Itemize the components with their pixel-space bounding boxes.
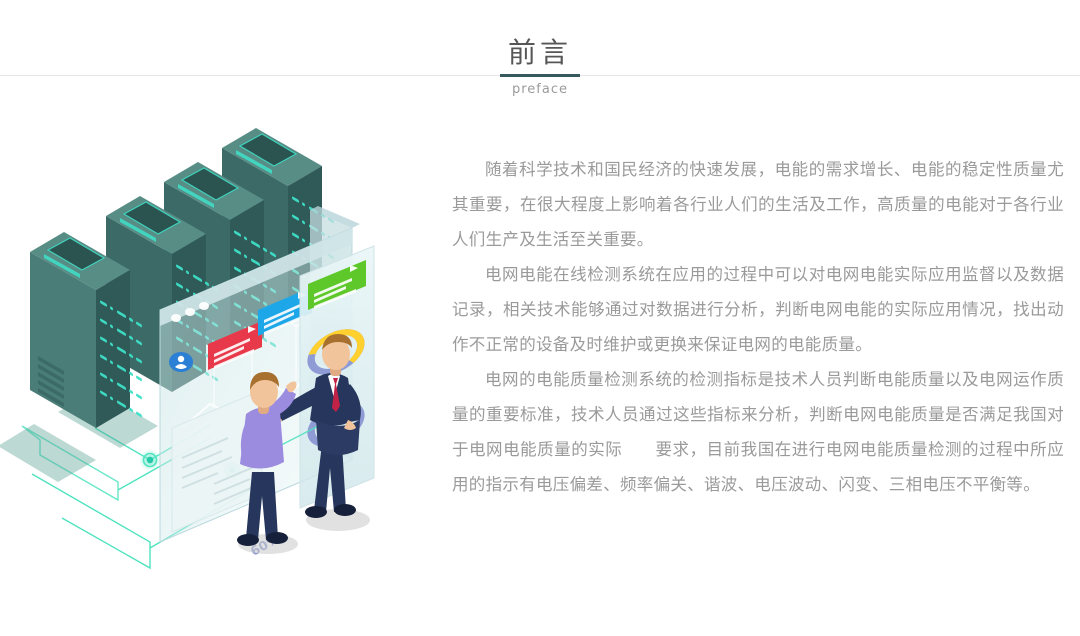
page-title: 前言 [0, 0, 1080, 70]
paragraph-3: 电网的电能质量检测系统的检测指标是技术人员判断电能质量以及电网运作质量的重要标准… [452, 362, 1064, 502]
header-title-block: 前言 [0, 0, 1080, 70]
article-body: 随着科学技术和国民经济的快速发展，电能的需求增长、电能的稳定性质量尤其重要，在很… [452, 152, 1064, 502]
isometric-datacenter-illustration: 60% 30% [0, 128, 440, 578]
page-header: 前言 preface [0, 0, 1080, 110]
title-accent-bar [500, 74, 580, 77]
paragraph-1-text: 随着科学技术和国民经济的快速发展，电能的需求增长、电能的稳定性质量尤其重要，在很… [452, 160, 1064, 249]
page-subtitle: preface [0, 81, 1080, 99]
paragraph-1: 随着科学技术和国民经济的快速发展，电能的需求增长、电能的稳定性质量尤其重要，在很… [452, 152, 1064, 257]
user-avatar-icon [169, 352, 193, 372]
paragraph-2: 电网电能在线检测系统在应用的过程中可以对电网电能实际应用监督以及数据记录，相关技… [452, 257, 1064, 362]
paragraph-2-text: 电网电能在线检测系统在应用的过程中可以对电网电能实际应用监督以及数据记录，相关技… [452, 265, 1064, 354]
